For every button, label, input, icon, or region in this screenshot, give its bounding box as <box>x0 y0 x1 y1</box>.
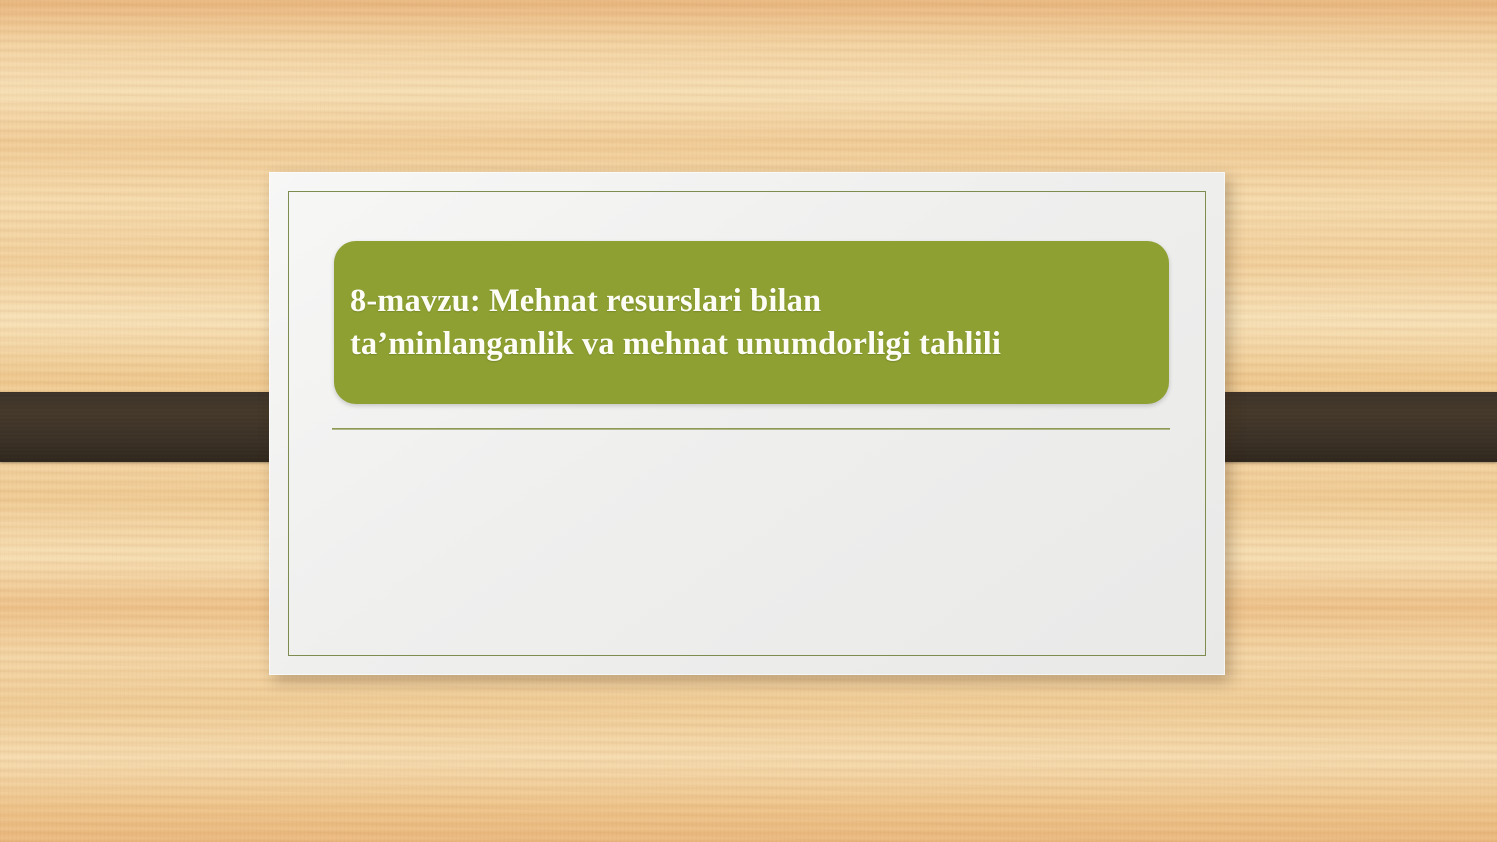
title-placeholder-box[interactable]: 8-mavzu: Mehnat resurslari bilan ta’minl… <box>334 241 1169 404</box>
subtitle-placeholder[interactable] <box>334 446 1172 642</box>
title-divider-rule <box>332 428 1170 430</box>
slide-title: 8-mavzu: Mehnat resurslari bilan ta’minl… <box>334 280 1027 366</box>
slide-canvas: 8-mavzu: Mehnat resurslari bilan ta’minl… <box>0 0 1497 842</box>
